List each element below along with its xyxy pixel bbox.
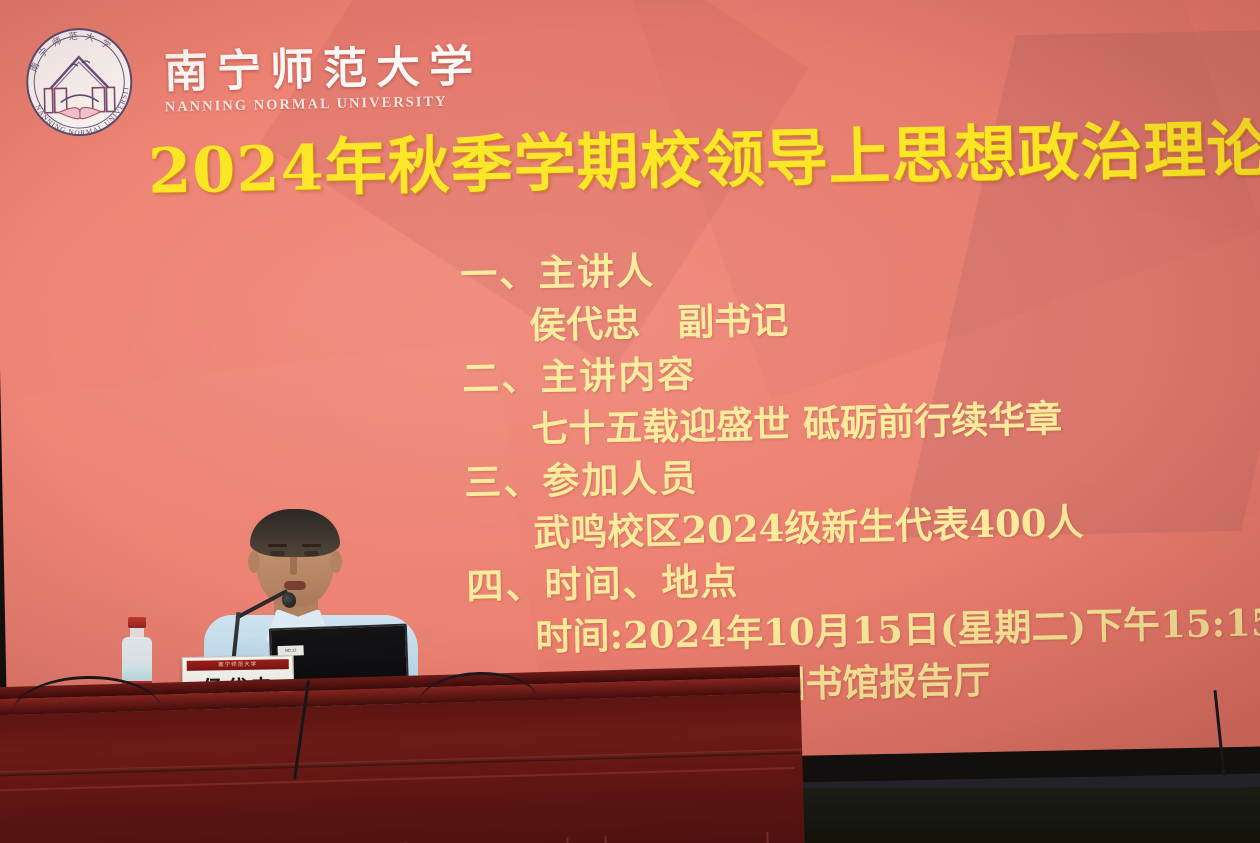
bottle-cap (128, 617, 146, 628)
podium-chevron (604, 832, 770, 843)
speaker-eye-left (270, 551, 285, 556)
speaker-hair (250, 509, 340, 557)
podium-panel (0, 767, 798, 843)
bottle-neck (130, 628, 144, 639)
hall-floor (760, 788, 1260, 843)
speaker-ear-right (330, 551, 342, 573)
speaker-eyebrow-left (268, 544, 287, 547)
speaker-mouth (284, 581, 306, 590)
podium-chevron (404, 837, 570, 843)
speaker-eyebrow-right (302, 544, 321, 547)
speaker-eye-right (304, 551, 319, 556)
speaker-ear-left (248, 551, 260, 573)
speaker-nose (290, 557, 297, 575)
name-plate-org: 南宁师范大学 (187, 659, 289, 671)
bottle-label-upper (122, 665, 152, 681)
lecture-hall-photo: NANNING NORMAL UNIVERSITY 南宁师范大学 南宁师范大学 … (0, 0, 1260, 843)
podium-body (0, 693, 805, 843)
